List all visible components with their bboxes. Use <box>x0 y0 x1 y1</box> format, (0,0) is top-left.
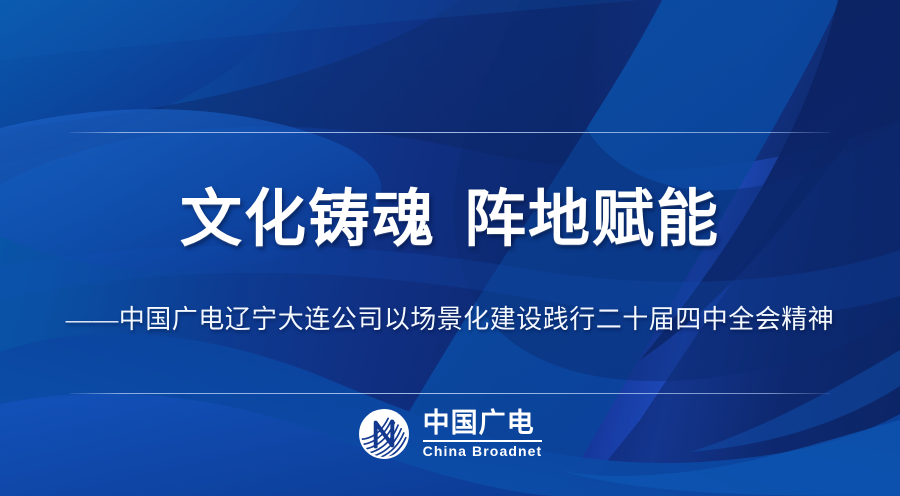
page-title: 文化铸魂阵地赋能 <box>180 186 720 255</box>
divider-line-top <box>70 132 830 133</box>
divider-line-bottom <box>70 393 830 394</box>
brand-name-cn: 中国广电 <box>423 409 543 437</box>
brand-wordmark-rule <box>423 440 543 442</box>
china-broadnet-globe-icon <box>358 408 410 460</box>
subtitle-block: ——中国广电辽宁大连公司以场景化建设践行二十届四中全会精神 <box>0 303 900 337</box>
headline-part-1: 文化铸魂 <box>180 186 436 254</box>
brand-wordmark: 中国广电 China Broadnet <box>423 409 543 460</box>
headline-part-2: 阵地赋能 <box>464 186 720 254</box>
headline-block: 文化铸魂阵地赋能 <box>0 186 900 255</box>
page-subtitle: ——中国广电辽宁大连公司以场景化建设践行二十届四中全会精神 <box>66 303 835 337</box>
poster-canvas: 文化铸魂阵地赋能 ——中国广电辽宁大连公司以场景化建设践行二十届四中全会精神 <box>0 0 900 496</box>
brand-logo-lockup: 中国广电 China Broadnet <box>0 408 900 460</box>
brand-name-en: China Broadnet <box>423 444 543 459</box>
